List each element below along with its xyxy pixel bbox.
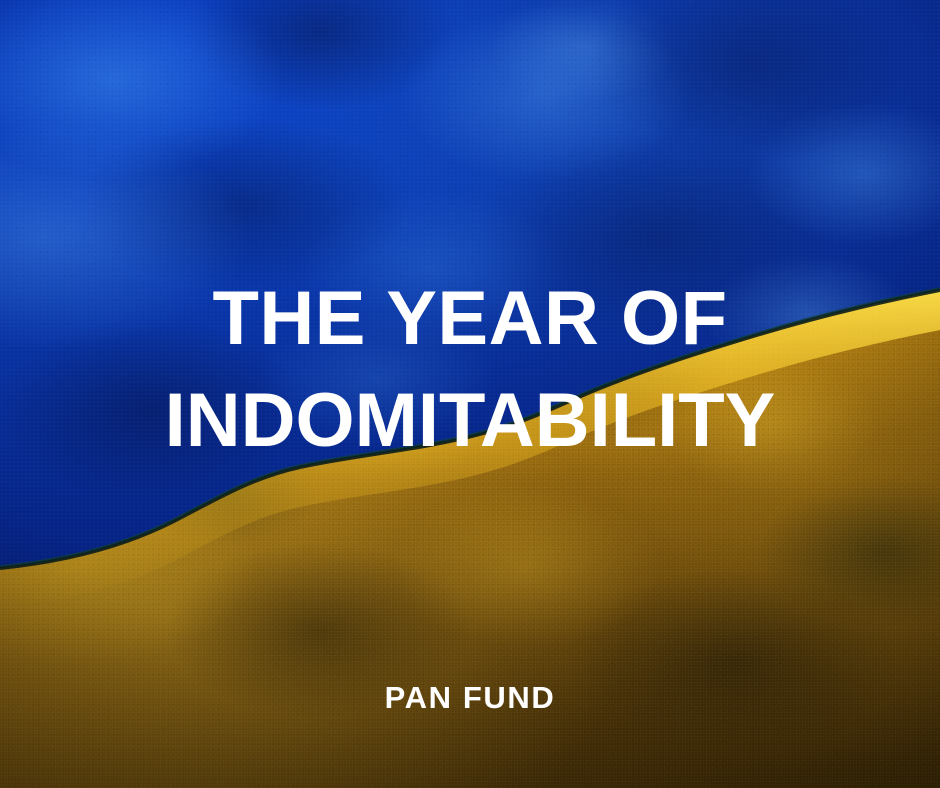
brand-block: PAN FUND xyxy=(0,680,940,716)
headline-line-2: INDOMITABILITY xyxy=(0,370,940,472)
brand-name: PAN FUND xyxy=(385,680,556,715)
poster-canvas: THE YEAR OF INDOMITABILITY PAN FUND xyxy=(0,0,940,788)
headline-line-1: THE YEAR OF xyxy=(0,268,940,370)
headline-block: THE YEAR OF INDOMITABILITY xyxy=(0,268,940,472)
